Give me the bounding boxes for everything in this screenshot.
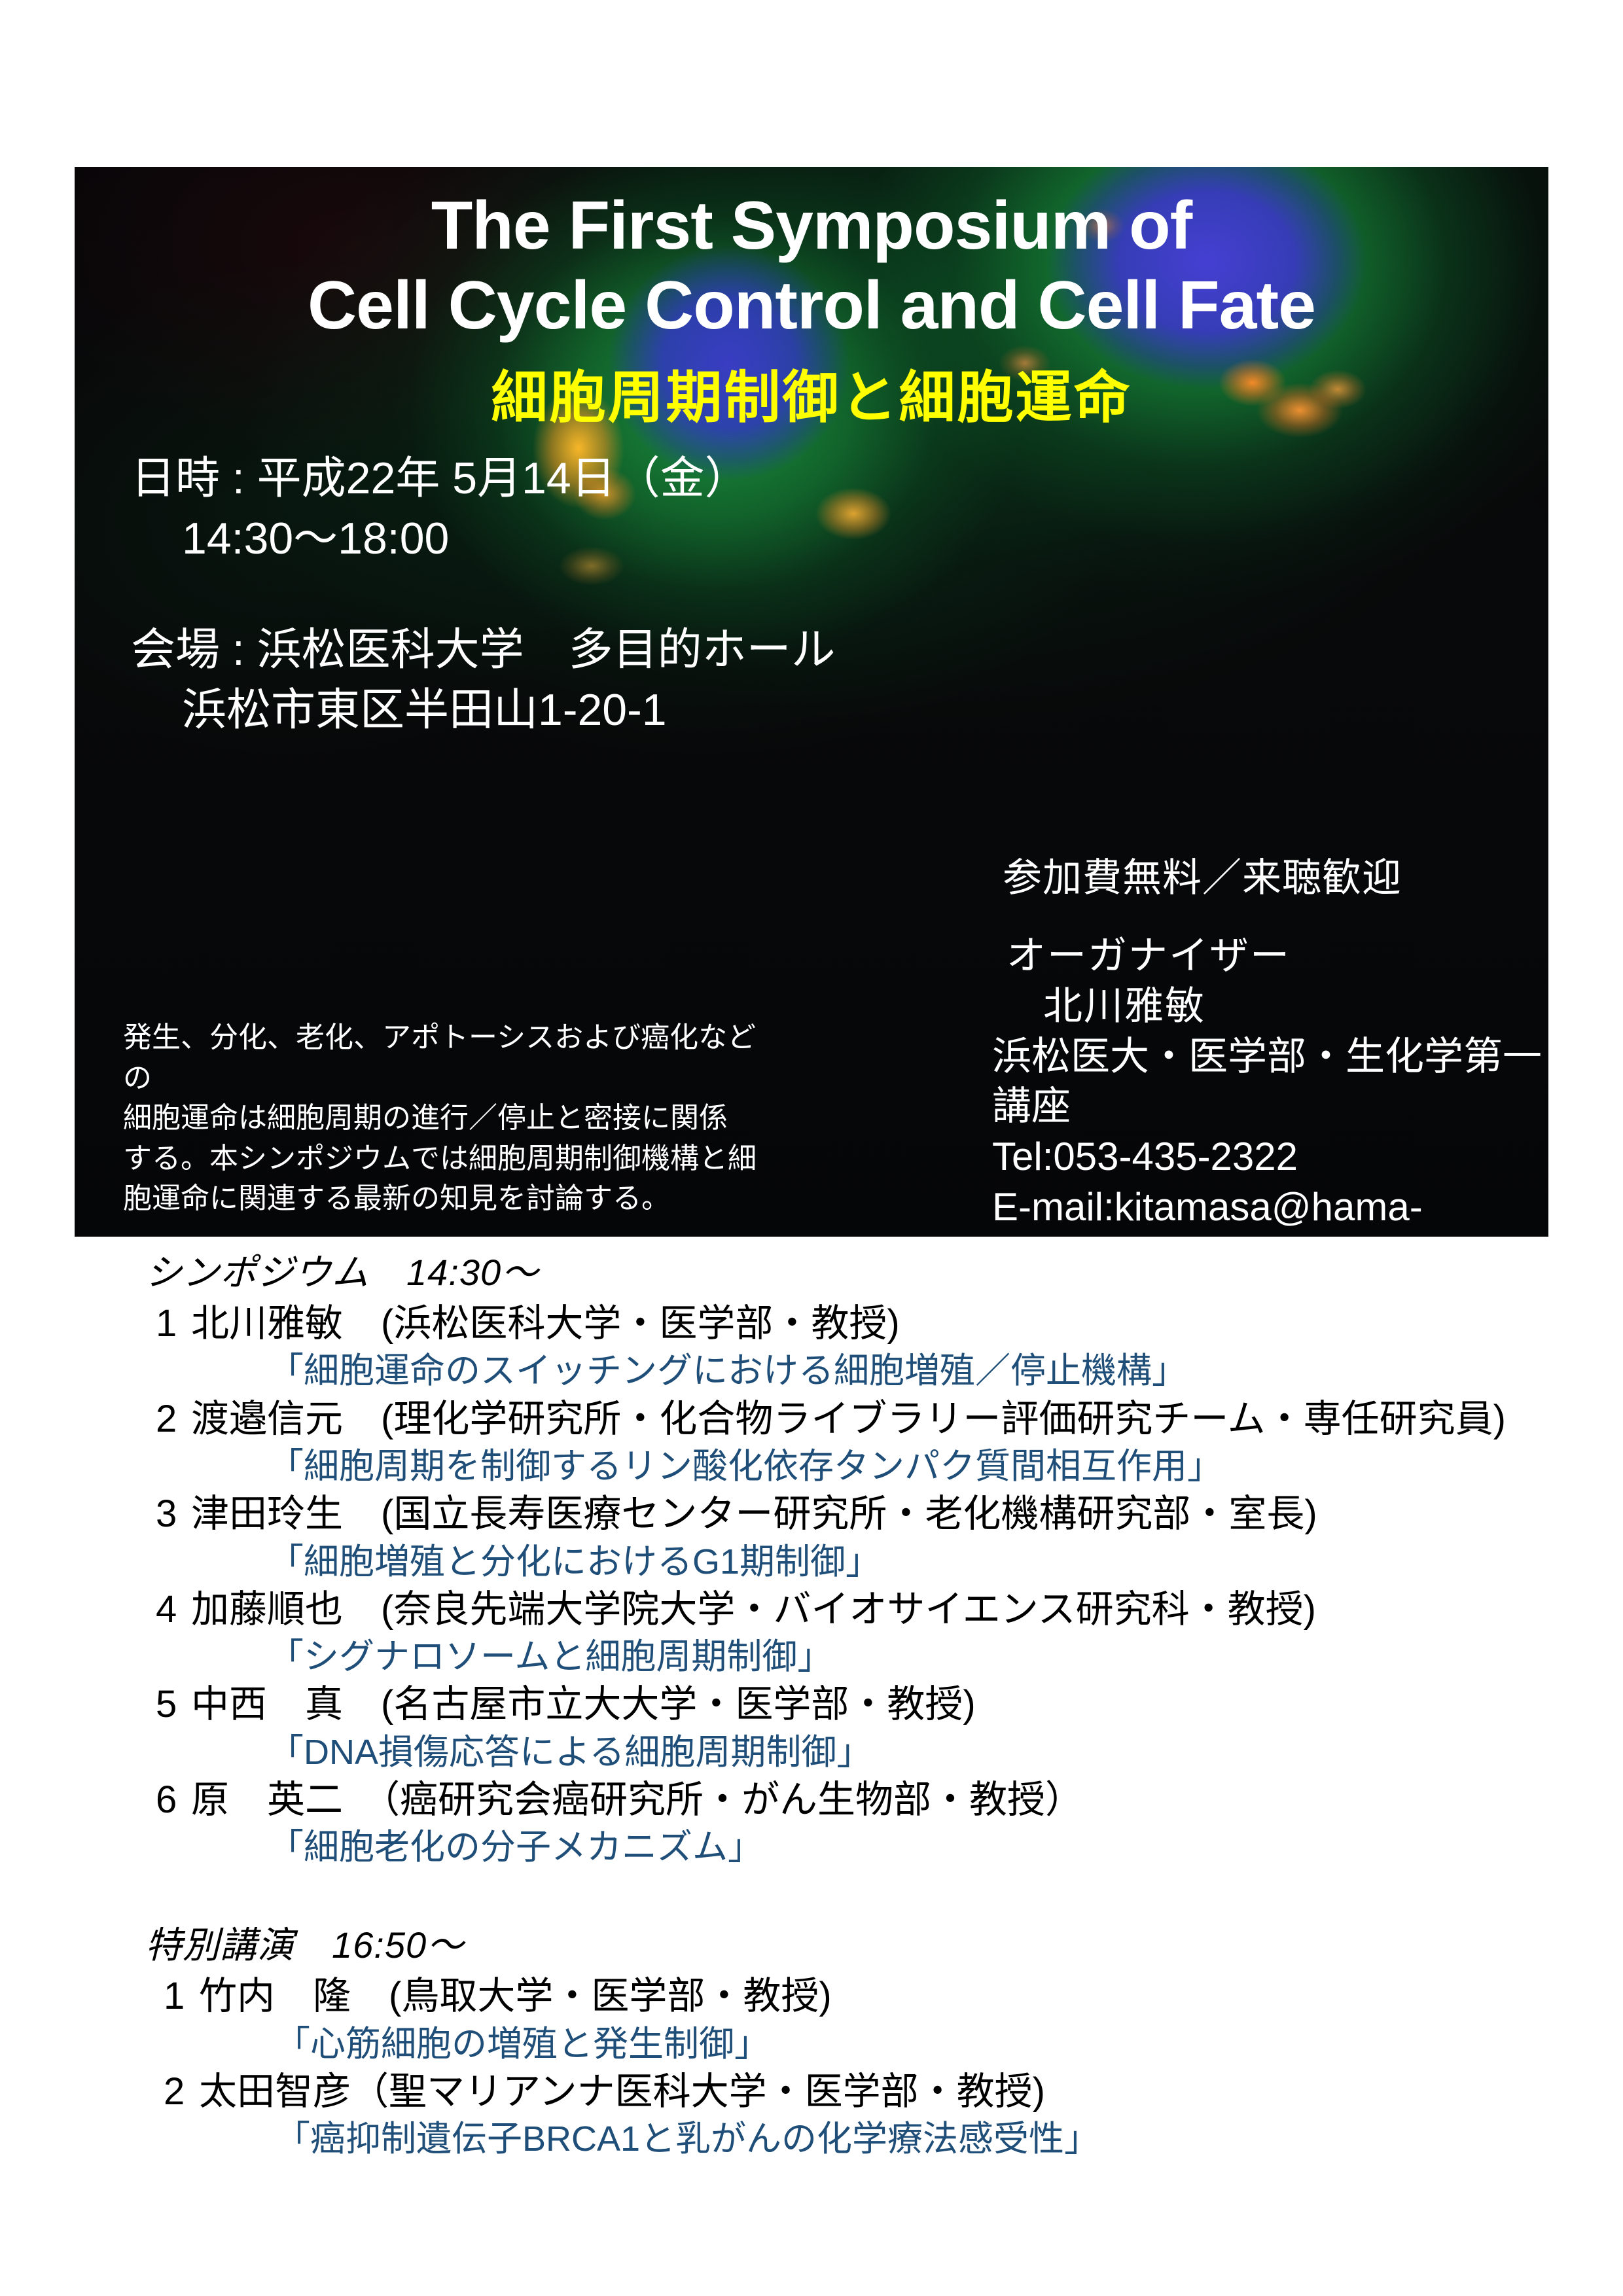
poster-title-japanese: 細胞周期制御と細胞運命 (75, 351, 1548, 433)
symposium-heading: シンポジウム 14:30〜 (145, 1243, 1623, 1296)
symposium-abstract: 発生、分化、老化、アポトーシスおよび癌化などの 細胞運命は細胞周期の進行／停止と… (123, 1017, 777, 1219)
talk-title: 「DNA損傷応答による細胞周期制御」 (268, 1729, 1623, 1775)
speaker-line: 6原 英二 （癌研究会癌研究所・がん生物部・教授） (156, 1775, 1623, 1824)
speaker-name-affiliation: 渡邉信元 (理化学研究所・化合物ライブラリー評価研究チーム・専任研究員) (191, 1398, 1506, 1440)
venue-line-1: 会場 : 浜松医科大学 多目的ホール (131, 625, 836, 675)
organizer-name: 北川雅敏 (992, 981, 1548, 1032)
abstract-line-2: 細胞運命は細胞周期の進行／停止と密接に関係 (123, 1098, 777, 1139)
organizer-label: オーガナイザー (992, 931, 1548, 981)
speaker-number: 4 (156, 1585, 191, 1634)
speaker-line: 2太田智彦（聖マリアンナ医科大学・医学部・教授) (164, 2067, 1623, 2116)
talk-title: 「細胞増殖と分化におけるG1期制御」 (268, 1539, 1623, 1585)
speaker-number: 3 (156, 1489, 191, 1538)
speaker-number: 1 (164, 1971, 199, 2021)
list-item: 2渡邉信元 (理化学研究所・化合物ライブラリー評価研究チーム・専任研究員) 「細… (0, 1394, 1623, 1490)
speaker-line: 3津田玲生 (国立長寿医療センター研究所・老化機構研究部・室長) (156, 1489, 1623, 1538)
abstract-line-4: 胞運命に関連する最新の知見を討論する。 (123, 1178, 777, 1219)
organizer-department: 浜松医大・医学部・生化学第一講座 (992, 1032, 1548, 1133)
symposium-block: シンポジウム 14:30〜 1北川雅敏 (浜松医科大学・医学部・教授) 「細胞運… (0, 1243, 1623, 1870)
fluorescence-micrograph-banner: The First Symposium of Cell Cycle Contro… (75, 167, 1548, 1237)
speaker-number: 2 (156, 1394, 191, 1443)
list-item: 4加藤順也 (奈良先端大学院大学・バイオサイエンス研究科・教授) 「シグナロソー… (0, 1585, 1623, 1680)
list-item: 2太田智彦（聖マリアンナ医科大学・医学部・教授) 「癌抑制遺伝子BRCA1と乳が… (0, 2067, 1623, 2163)
speaker-number: 1 (156, 1299, 191, 1348)
event-venue: 会場 : 浜松医科大学 多目的ホール 浜松市東区半田山1-20-1 (131, 620, 836, 741)
organizer-email: E-mail:kitamasa@hama-med.ac.jp (992, 1182, 1548, 1237)
speaker-name-affiliation: 原 英二 （癌研究会癌研究所・がん生物部・教授） (191, 1778, 1083, 1821)
speaker-line: 1北川雅敏 (浜松医科大学・医学部・教授) (156, 1299, 1623, 1348)
speaker-name-affiliation: 津田玲生 (国立長寿医療センター研究所・老化機構研究部・室長) (191, 1492, 1317, 1535)
abstract-line-1: 発生、分化、老化、アポトーシスおよび癌化などの (123, 1017, 777, 1098)
speaker-number: 6 (156, 1775, 191, 1824)
speaker-name-affiliation: 中西 真 (名古屋市立大大学・医学部・教授) (191, 1683, 976, 1725)
special-lecture-heading: 特別講演 16:50〜 (145, 1916, 1623, 1969)
speaker-line: 1竹内 隆 (鳥取大学・医学部・教授) (164, 1971, 1623, 2021)
poster-title-english: The First Symposium of Cell Cycle Contro… (75, 186, 1548, 345)
speaker-line: 2渡邉信元 (理化学研究所・化合物ライブラリー評価研究チーム・専任研究員) (156, 1394, 1623, 1443)
talk-title: 「シグナロソームと細胞周期制御」 (268, 1634, 1623, 1680)
speaker-name-affiliation: 太田智彦（聖マリアンナ医科大学・医学部・教授) (199, 2070, 1045, 2113)
list-item: 5中西 真 (名古屋市立大大学・医学部・教授) 「DNA損傷応答による細胞周期制… (0, 1680, 1623, 1775)
list-item: 1北川雅敏 (浜松医科大学・医学部・教授) 「細胞運命のスイッチングにおける細胞… (0, 1299, 1623, 1394)
admission-free-note: 参加費無料／来聴歓迎 (1003, 846, 1402, 903)
datetime-line-1: 日時 : 平成22年 5月14日（金） (131, 453, 749, 503)
speaker-name-affiliation: 加藤順也 (奈良先端大学院大学・バイオサイエンス研究科・教授) (191, 1588, 1316, 1631)
organizer-block: オーガナイザー 北川雅敏 浜松医大・医学部・生化学第一講座 Tel:053-43… (992, 931, 1548, 1237)
list-item: 6原 英二 （癌研究会癌研究所・がん生物部・教授） 「細胞老化の分子メカニズム」 (0, 1775, 1623, 1871)
talk-title: 「心筋細胞の増殖と発生制御」 (275, 2021, 1623, 2067)
program-section: シンポジウム 14:30〜 1北川雅敏 (浜松医科大学・医学部・教授) 「細胞運… (0, 1243, 1623, 2163)
speaker-line: 4加藤順也 (奈良先端大学院大学・バイオサイエンス研究科・教授) (156, 1585, 1623, 1634)
speaker-name-affiliation: 竹内 隆 (鳥取大学・医学部・教授) (199, 1975, 832, 2017)
talk-title: 「細胞老化の分子メカニズム」 (268, 1824, 1623, 1870)
special-lecture-block: 特別講演 16:50〜 1竹内 隆 (鳥取大学・医学部・教授) 「心筋細胞の増殖… (0, 1916, 1623, 2162)
speaker-number: 5 (156, 1680, 191, 1729)
list-item: 3津田玲生 (国立長寿医療センター研究所・老化機構研究部・室長) 「細胞増殖と分… (0, 1489, 1623, 1585)
event-datetime: 日時 : 平成22年 5月14日（金） 14:30〜18:00 (131, 448, 749, 569)
speaker-name-affiliation: 北川雅敏 (浜松医科大学・医学部・教授) (191, 1302, 900, 1345)
talk-title: 「癌抑制遺伝子BRCA1と乳がんの化学療法感受性」 (275, 2116, 1623, 2162)
venue-line-2: 浜松市東区半田山1-20-1 (131, 680, 836, 740)
datetime-line-2: 14:30〜18:00 (131, 508, 749, 569)
speaker-number: 2 (164, 2067, 199, 2116)
talk-title: 「細胞運命のスイッチングにおける細胞増殖／停止機構」 (268, 1348, 1623, 1394)
abstract-line-3: する。本シンポジウムでは細胞周期制御機構と細 (123, 1139, 777, 1179)
talk-title: 「細胞周期を制御するリン酸化依存タンパク質間相互作用」 (268, 1443, 1623, 1489)
speaker-line: 5中西 真 (名古屋市立大大学・医学部・教授) (156, 1680, 1623, 1729)
list-item: 1竹内 隆 (鳥取大学・医学部・教授) 「心筋細胞の増殖と発生制御」 (0, 1971, 1623, 2067)
organizer-telephone: Tel:053-435-2322 (992, 1132, 1548, 1182)
